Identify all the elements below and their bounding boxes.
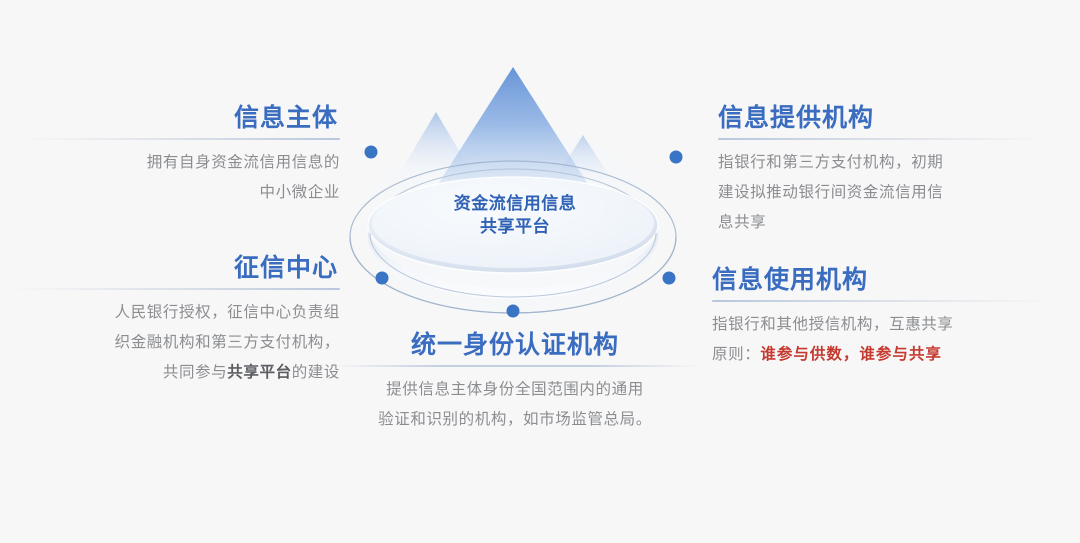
heading-divider bbox=[712, 300, 1052, 302]
block-heading-information-user: 信息使用机构 bbox=[712, 265, 1052, 295]
block-body-credit-reference-center: 人民银行授权，征信中心负责组 织金融机构和第三方支付机构， 共同参与共享平台的建… bbox=[10, 298, 340, 388]
body-line: 提供信息主体身份全国范围内的通用 bbox=[330, 375, 700, 405]
platform-label-line-1: 资金流信用信息 bbox=[340, 192, 690, 215]
body-emphasis: 共享平台 bbox=[227, 364, 291, 381]
orbit-node-5 bbox=[507, 305, 520, 318]
heading-divider bbox=[330, 365, 700, 367]
orbit-node-2 bbox=[670, 151, 683, 164]
body-line: 共同参与共享平台的建设 bbox=[10, 358, 340, 388]
body-highlight: 谁参与供数，谁参与共享 bbox=[760, 346, 942, 363]
body-text: 共同参与 bbox=[163, 364, 227, 381]
body-line: 指银行和第三方支付机构，初期 bbox=[718, 148, 1048, 178]
body-line: 原则：谁参与供数，谁参与共享 bbox=[712, 340, 1052, 370]
infographic-canvas: 资金流信用信息 共享平台 信息主体 拥有自身资金流信用信息的 中小微企业 征信中… bbox=[0, 0, 1080, 543]
orbit-node-3 bbox=[376, 272, 389, 285]
block-body-information-provider: 指银行和第三方支付机构，初期 建设拟推动银行间资金流信用信 息共享 bbox=[718, 148, 1048, 238]
orbit-node-4 bbox=[663, 272, 676, 285]
heading-divider bbox=[10, 288, 340, 290]
block-body-information-user: 指银行和其他授信机构，互惠共享 原则：谁参与供数，谁参与共享 bbox=[712, 310, 1052, 370]
body-line: 指银行和其他授信机构，互惠共享 bbox=[712, 310, 1052, 340]
block-heading-information-subject: 信息主体 bbox=[20, 103, 340, 133]
heading-divider bbox=[718, 138, 1048, 140]
platform-label: 资金流信用信息 共享平台 bbox=[340, 192, 690, 238]
block-heading-credit-reference-center: 征信中心 bbox=[10, 253, 340, 283]
block-heading-information-provider: 信息提供机构 bbox=[718, 103, 1048, 133]
block-heading-unified-identity-authority: 统一身份认证机构 bbox=[330, 330, 700, 360]
heading-divider bbox=[20, 138, 340, 140]
body-line: 人民银行授权，征信中心负责组 bbox=[10, 298, 340, 328]
body-text: 原则： bbox=[712, 346, 760, 363]
body-line: 拥有自身资金流信用信息的 bbox=[20, 148, 340, 178]
body-line: 织金融机构和第三方支付机构， bbox=[10, 328, 340, 358]
body-line: 验证和识别的机构，如市场监管总局。 bbox=[330, 405, 700, 435]
block-unified-identity-authority: 统一身份认证机构 提供信息主体身份全国范围内的通用 验证和识别的机构，如市场监管… bbox=[330, 330, 700, 435]
block-information-user: 信息使用机构 指银行和其他授信机构，互惠共享 原则：谁参与供数，谁参与共享 bbox=[712, 265, 1052, 370]
block-body-unified-identity-authority: 提供信息主体身份全国范围内的通用 验证和识别的机构，如市场监管总局。 bbox=[330, 375, 700, 435]
platform-label-line-2: 共享平台 bbox=[340, 215, 690, 238]
block-credit-reference-center: 征信中心 人民银行授权，征信中心负责组 织金融机构和第三方支付机构， 共同参与共… bbox=[10, 253, 340, 388]
body-line: 建设拟推动银行间资金流信用信 bbox=[718, 178, 1048, 208]
block-information-provider: 信息提供机构 指银行和第三方支付机构，初期 建设拟推动银行间资金流信用信 息共享 bbox=[718, 103, 1048, 238]
body-line: 中小微企业 bbox=[20, 178, 340, 208]
orbit-node-1 bbox=[365, 146, 378, 159]
block-body-information-subject: 拥有自身资金流信用信息的 中小微企业 bbox=[20, 148, 340, 208]
body-line: 息共享 bbox=[718, 208, 1048, 238]
platform-illustration bbox=[340, 40, 690, 340]
block-information-subject: 信息主体 拥有自身资金流信用信息的 中小微企业 bbox=[20, 103, 340, 208]
center-platform-graphic: 资金流信用信息 共享平台 bbox=[340, 40, 690, 340]
